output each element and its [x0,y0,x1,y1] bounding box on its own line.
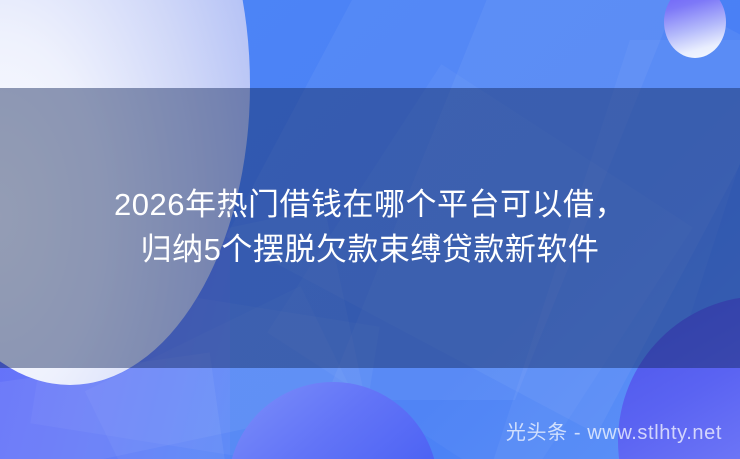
banner-title-line-2: 归纳5个摆脱欠款束缚贷款新软件 [14,228,726,273]
site-watermark: 光头条 - www.stlhty.net [506,416,722,445]
promo-banner: 2026年热门借钱在哪个平台可以借， 归纳5个摆脱欠款束缚贷款新软件 光头条 -… [0,0,740,459]
banner-title-line-1: 2026年热门借钱在哪个平台可以借， [14,183,726,228]
banner-title: 2026年热门借钱在哪个平台可以借， 归纳5个摆脱欠款束缚贷款新软件 [0,183,740,273]
title-overlay-band: 2026年热门借钱在哪个平台可以借， 归纳5个摆脱欠款束缚贷款新软件 [0,88,740,368]
